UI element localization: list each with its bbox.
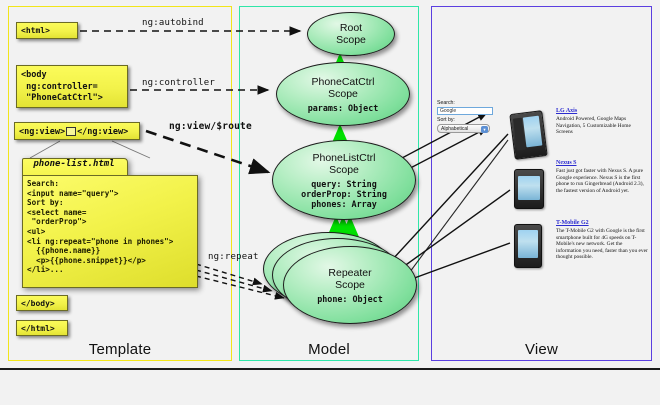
label-ng-repeat: ng:repeat bbox=[208, 252, 259, 262]
chevron-down-icon: ▾ bbox=[481, 126, 488, 133]
ng-view-open-tag: <ng:view> bbox=[19, 127, 65, 137]
phone-name-link[interactable]: T-Mobile G2 bbox=[556, 220, 648, 226]
scope-phonelistctrl-title-2: Scope bbox=[329, 164, 359, 176]
view-sort-select[interactable]: Alphabetical ▾ bbox=[437, 124, 490, 133]
code-box-ng-view: <ng:view></ng:view> bbox=[14, 122, 140, 140]
code-box-html-open: <html> bbox=[16, 22, 78, 39]
scope-repeater-props: phone: Object bbox=[317, 294, 383, 304]
label-ng-controller: ng:controller bbox=[142, 78, 215, 88]
panel-view-label: View bbox=[432, 341, 651, 358]
scope-phonelistctrl-title-1: PhoneListCtrl bbox=[312, 152, 375, 164]
note-code-body: Search: <input name="query"> Sort by: <s… bbox=[22, 175, 198, 288]
scope-phonecatctrl-props: params: Object bbox=[308, 103, 379, 113]
phone-listing-item: T-Mobile G2 The T-Mobile G2 with Google … bbox=[556, 220, 648, 261]
phone-screen bbox=[518, 230, 538, 258]
view-search-input[interactable]: Google bbox=[437, 107, 493, 115]
code-box-body-close: </body> bbox=[16, 295, 68, 311]
view-search-label: Search: bbox=[437, 100, 455, 106]
phone-screen bbox=[518, 176, 540, 200]
phone-name-link[interactable]: LG Axis bbox=[556, 108, 648, 114]
scope-phonecatctrl: PhoneCatCtrl Scope params: Object bbox=[276, 62, 410, 126]
scope-root-title-2: Scope bbox=[336, 34, 366, 46]
phone-thumbnail-lg-axis bbox=[509, 110, 547, 160]
phone-screen bbox=[523, 116, 543, 148]
code-box-body-open: <body ng:controller= "PhoneCatCtrl"> bbox=[16, 65, 128, 108]
diagram-canvas: Template Model View bbox=[0, 0, 660, 405]
view-sort-value: Alphabetical bbox=[441, 126, 468, 132]
view-sortby-label: Sort by: bbox=[437, 117, 455, 123]
scope-root: Root Scope bbox=[307, 12, 395, 56]
panel-template-label: Template bbox=[9, 341, 231, 358]
scope-repeater-front: Repeater Scope phone: Object bbox=[283, 246, 417, 324]
scope-root-title-1: Root bbox=[340, 22, 362, 34]
panel-model-label: Model bbox=[240, 341, 418, 358]
label-ng-view-route: ng:view/$route bbox=[169, 121, 252, 132]
legend-divider bbox=[0, 368, 660, 370]
phone-listing-item: LG Axis Android Powered, Google Maps Nav… bbox=[556, 108, 648, 136]
phone-thumbnail-t-mobile-g2 bbox=[514, 224, 542, 268]
scope-phonelistctrl-props: query: String orderProp: String phones: … bbox=[301, 179, 387, 209]
phone-thumbnail-nexus-s bbox=[514, 169, 544, 209]
note-title: phone-list.html bbox=[22, 159, 126, 169]
phone-listing-item: Nexus S Fast just got faster with Nexus … bbox=[556, 160, 648, 194]
legend bbox=[0, 368, 660, 405]
label-ng-autobind: ng:autobind bbox=[142, 18, 204, 28]
phone-snippet: Android Powered, Google Maps Navigation,… bbox=[556, 116, 648, 136]
phone-name-link[interactable]: Nexus S bbox=[556, 160, 648, 166]
scope-phonelistctrl: PhoneListCtrl Scope query: String orderP… bbox=[272, 140, 416, 220]
scope-repeater-title-1: Repeater bbox=[328, 267, 371, 279]
scope-phonecatctrl-title-1: PhoneCatCtrl bbox=[311, 76, 374, 88]
ng-view-slot-icon bbox=[66, 127, 76, 136]
phone-snippet: Fast just got faster with Nexus S. A pur… bbox=[556, 168, 648, 194]
scope-phonecatctrl-title-2: Scope bbox=[328, 88, 358, 100]
code-box-html-close: </html> bbox=[16, 320, 68, 336]
note-phone-list-html: phone-list.html Search: <input name="que… bbox=[22, 158, 198, 288]
scope-repeater-title-2: Scope bbox=[335, 279, 365, 291]
scope-repeater-stack: Repeater Scope phone: Object bbox=[263, 232, 415, 324]
phone-snippet: The T-Mobile G2 with Google is the first… bbox=[556, 228, 648, 261]
ng-view-close-tag: </ng:view> bbox=[77, 127, 128, 137]
